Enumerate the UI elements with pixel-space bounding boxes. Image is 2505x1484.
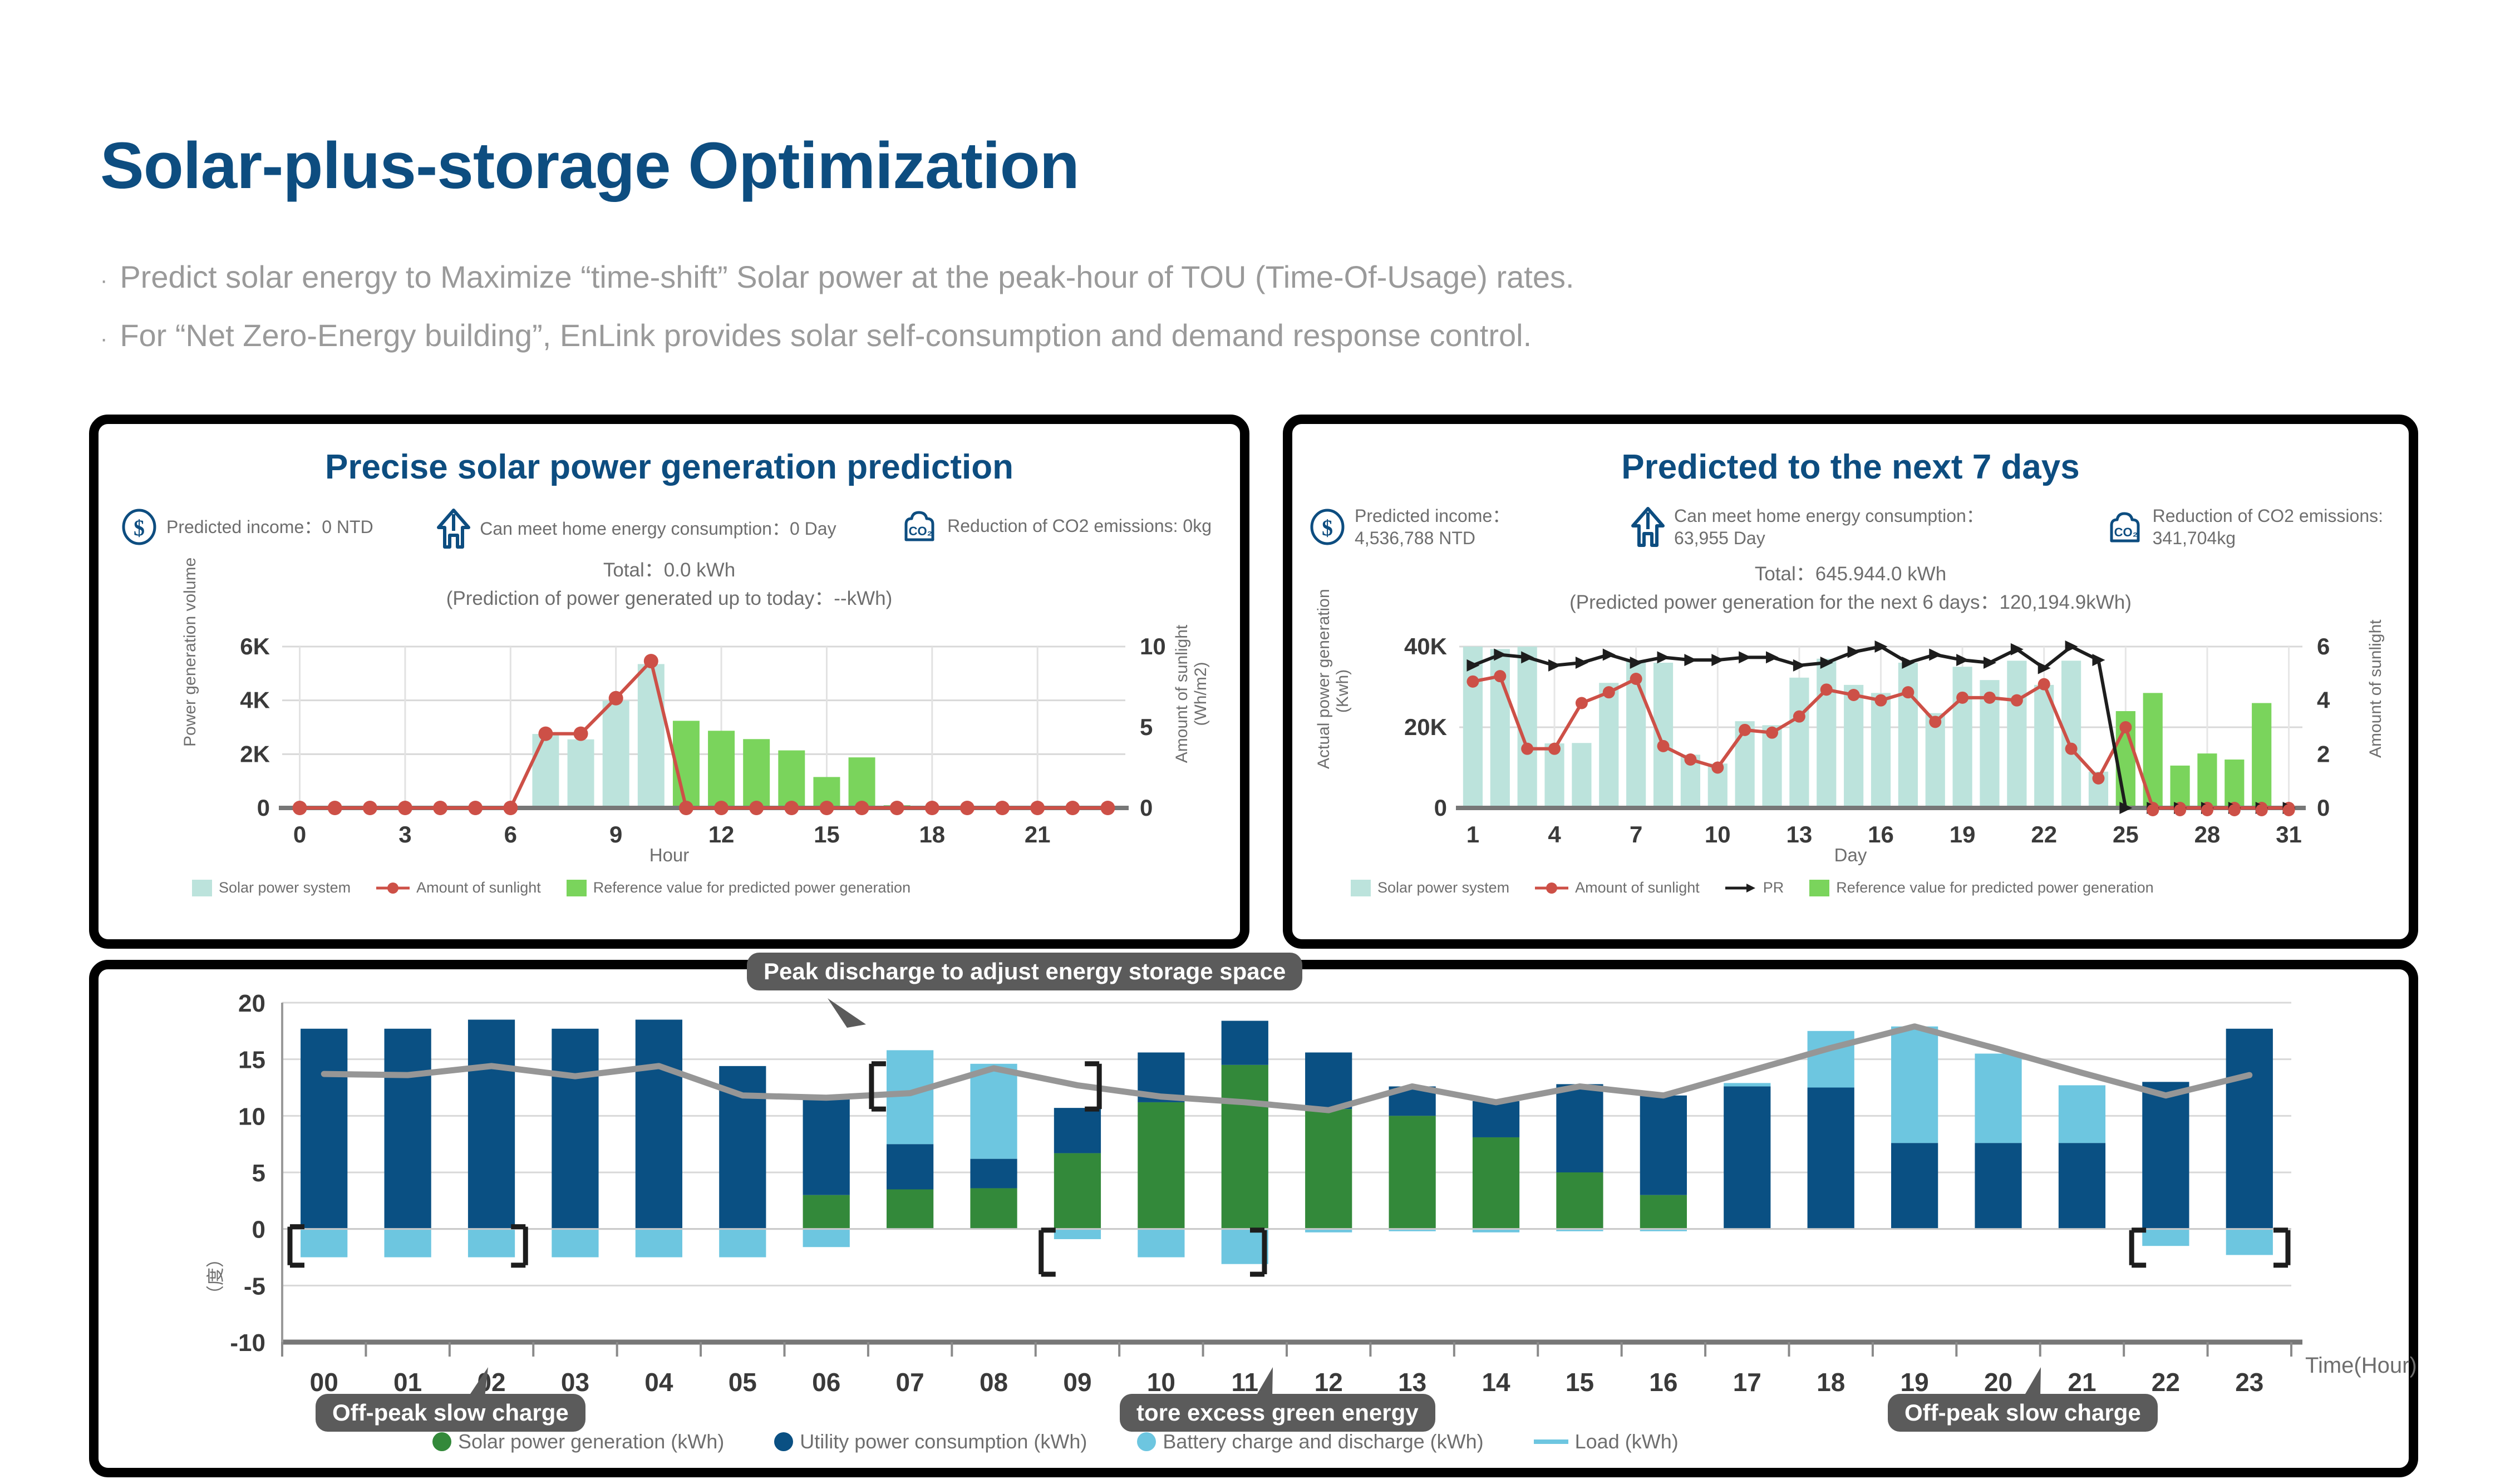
x-tick-label: 01: [393, 1368, 422, 1397]
bar-utility-consumption: [803, 1098, 850, 1195]
x-tick-label: 15: [1566, 1368, 1594, 1397]
sunlight-point: [328, 801, 342, 815]
x-tick-label: 08: [980, 1368, 1008, 1397]
sunlight-point: [1984, 692, 1996, 704]
legend-label-reference: Reference value for predicted power gene…: [1836, 879, 2153, 896]
legend-label-battery: Battery charge and discharge (kWh): [1163, 1430, 1483, 1453]
y2-tick-label: 0: [2317, 795, 2330, 821]
load-line: [324, 1027, 2250, 1110]
bar-battery-discharge: [552, 1229, 598, 1258]
legend-amount-of-sunlight: Amount of sunlight: [376, 879, 541, 896]
sunlight-point: [1684, 753, 1696, 766]
sunlight-point: [749, 801, 764, 815]
x-tick-label: 19: [1901, 1368, 1929, 1397]
panel-energy-dispatch: （度） Time(Hour) -10-505101520000102030405…: [89, 960, 2418, 1477]
sunlight-point: [1766, 727, 1778, 739]
bar-utility-consumption: [1724, 1086, 1770, 1229]
sunlight-point: [644, 654, 658, 668]
y-tick-label: 5: [252, 1160, 265, 1187]
bullet-dot-icon: ·: [100, 328, 107, 350]
sunlight-point: [1466, 676, 1479, 688]
bar-reference-value-for-predicted-power-generation: [2197, 753, 2217, 808]
legend-utility-consumption: Utility power consumption (kWh): [774, 1430, 1087, 1453]
legend-label-solar-generation: Solar power generation (kWh): [458, 1430, 724, 1453]
sunlight-point: [2119, 721, 2132, 733]
bullet-item-2: · For “Net Zero-Energy building”, EnLink…: [100, 317, 1532, 353]
bar-utility-consumption: [1054, 1108, 1101, 1153]
x-tick-label: 14: [1482, 1368, 1510, 1397]
pr-marker: [1984, 657, 1996, 669]
legend-marker-sunlight: [1535, 882, 1568, 894]
bar-solar-generation: [1556, 1172, 1603, 1229]
bar-utility-consumption: [385, 1029, 431, 1229]
legend-reference-value: Reference value for predicted power gene…: [567, 879, 911, 896]
slide-root: Solar-plus-storage Optimization · Predic…: [0, 0, 2505, 1484]
sunlight-point: [1793, 711, 1805, 723]
x-tick-label: 20: [1984, 1368, 2012, 1397]
pr-marker: [1739, 651, 1751, 663]
x-tick-label: 07: [896, 1368, 924, 1397]
bar-battery-discharge: [385, 1229, 431, 1258]
bar-battery-charge: [1724, 1083, 1770, 1086]
bar-solar-power-system: [638, 664, 665, 808]
sunlight-point: [679, 801, 693, 815]
sunlight-point: [293, 801, 307, 815]
x-tick-label: 03: [561, 1368, 589, 1397]
y-tick-label: 4K: [240, 687, 270, 713]
bar-solar-generation: [1389, 1116, 1436, 1229]
legend-reference-value: Reference value for predicted power gene…: [1809, 879, 2153, 896]
x-tick-label: 1: [1466, 821, 1479, 847]
bar-battery-discharge: [719, 1229, 766, 1258]
sunlight-point: [1065, 801, 1080, 815]
callout-peak-discharge: Peak discharge to adjust energy storage …: [747, 953, 1302, 990]
sunlight-point: [925, 801, 939, 815]
legend-amount-of-sunlight: Amount of sunlight: [1535, 879, 1700, 896]
bar-solar-power-system: [1572, 743, 1591, 808]
legend-marker-load: [1534, 1437, 1568, 1446]
sunlight-point: [2283, 804, 2295, 816]
bar-battery-charge: [1808, 1031, 1854, 1088]
legend-solar-power-system: Solar power system: [192, 879, 351, 896]
pr-marker: [1603, 649, 1616, 661]
pr-marker: [1929, 649, 1942, 661]
bar-solar-generation: [1138, 1102, 1184, 1229]
legend-label-sunlight: Amount of sunlight: [1575, 879, 1700, 896]
bar-utility-consumption: [2059, 1143, 2105, 1229]
bar-battery-charge: [970, 1064, 1017, 1159]
bar-solar-power-system: [1789, 678, 1809, 808]
x-tick-label: 25: [2113, 821, 2139, 847]
y-tick-label: 0: [252, 1216, 265, 1244]
pr-marker: [1848, 646, 1861, 658]
legend-pr: PR: [1725, 879, 1784, 896]
chart-bottom-legend: Solar power generation (kWh) Utility pow…: [432, 1430, 1704, 1453]
x-tick-label: 12: [708, 821, 735, 847]
bar-solar-generation: [1222, 1065, 1268, 1229]
sunlight-point: [433, 801, 447, 815]
sunlight-point: [1657, 740, 1670, 752]
legend-swatch-solar-generation: [432, 1432, 451, 1451]
legend-label-solar: Solar power system: [219, 879, 351, 896]
bar-utility-consumption: [552, 1029, 598, 1229]
sunlight-point: [890, 801, 904, 815]
bar-solar-power-system: [1871, 693, 1891, 808]
legend-load: Load (kWh): [1534, 1430, 1679, 1453]
y-tick-label: 40K: [1404, 633, 1447, 659]
x-tick-label: 16: [1868, 821, 1894, 847]
y-tick-label: 20K: [1404, 714, 1447, 740]
sunlight-point: [2092, 772, 2104, 785]
chart-daily-energy-dispatch: （度） Time(Hour) -10-505101520000102030405…: [99, 969, 2409, 1468]
sunlight-point: [1603, 686, 1615, 698]
bar-battery-discharge: [1054, 1229, 1101, 1239]
x-tick-label: 6: [504, 821, 517, 847]
pr-marker: [1576, 657, 1588, 669]
bar-utility-consumption: [1891, 1143, 1938, 1229]
y-tick-label: 0: [1434, 795, 1447, 821]
x-tick-label: 0: [293, 821, 306, 847]
x-tick-label: 10: [1147, 1368, 1175, 1397]
y2-tick-label: 4: [2317, 687, 2330, 713]
sunlight-point: [1576, 697, 1588, 709]
x-tick-label: 4: [1548, 821, 1561, 847]
y-tick-label: 0: [257, 795, 270, 821]
bar-reference-value-for-predicted-power-generation: [2252, 703, 2271, 808]
sunlight-point: [468, 801, 483, 815]
bar-utility-consumption: [2142, 1082, 2189, 1229]
legend-swatch-solar: [1351, 880, 1371, 896]
legend-swatch-reference: [567, 880, 587, 896]
sunlight-point: [714, 801, 729, 815]
chart-left-canvas: 02K4K6K0510036912151821: [99, 424, 1240, 939]
x-tick-label: 22: [2152, 1368, 2180, 1397]
bar-solar-generation: [1305, 1109, 1352, 1229]
y-tick-label: 20: [238, 990, 265, 1017]
x-tick-label: 9: [609, 821, 622, 847]
x-tick-label: 31: [2276, 821, 2302, 847]
bar-utility-consumption: [887, 1144, 933, 1189]
y-tick-label: 6K: [240, 633, 270, 659]
sunlight-point: [784, 801, 799, 815]
bar-utility-consumption: [1305, 1052, 1352, 1109]
panel-next-7-days: Predicted to the next 7 days $ Predicted…: [1283, 415, 2418, 949]
bar-utility-consumption: [1975, 1143, 2021, 1229]
sunlight-point: [2147, 804, 2159, 816]
page-title: Solar-plus-storage Optimization: [100, 128, 1079, 204]
callout-offpeak-slow-charge-left: Off-peak slow charge: [316, 1394, 585, 1432]
sunlight-point: [538, 727, 553, 741]
bar-reference-value-for-predicted-power-generation: [778, 751, 805, 808]
x-tick-label: 12: [1315, 1368, 1343, 1397]
chart-daily-prediction: Actual power generation(Kwh) Amount of s…: [1292, 424, 2409, 939]
bar-battery-charge: [1891, 1027, 1938, 1143]
bar-solar-power-system: [532, 734, 559, 808]
x-tick-label: 18: [1817, 1368, 1845, 1397]
bar-solar-power-system: [1463, 647, 1483, 808]
sunlight-point: [1820, 683, 1833, 696]
y-tick-label: 10: [238, 1103, 265, 1130]
sunlight-point: [1902, 686, 1914, 698]
x-tick-label: 11: [1231, 1368, 1258, 1397]
sunlight-point: [1848, 689, 1860, 701]
sunlight-point: [1521, 743, 1533, 755]
legend-swatch-reference: [1809, 880, 1829, 896]
bar-battery-charge: [2059, 1085, 2105, 1143]
bar-battery-discharge: [2142, 1229, 2189, 1246]
bullet-item-1: · Predict solar energy to Maximize “time…: [100, 259, 1574, 295]
y2-tick-label: 10: [1140, 633, 1166, 659]
bar-utility-consumption: [301, 1029, 347, 1229]
legend-label-utility: Utility power consumption (kWh): [800, 1430, 1087, 1453]
bar-solar-generation: [1473, 1137, 1519, 1229]
bar-solar-generation: [1640, 1195, 1687, 1229]
y2-tick-label: 0: [1140, 795, 1153, 821]
bar-solar-power-system: [2007, 660, 2026, 808]
bullet-text-2: For “Net Zero-Energy building”, EnLink p…: [120, 317, 1532, 353]
legend-swatch-battery: [1137, 1432, 1156, 1451]
bar-utility-consumption: [1556, 1084, 1603, 1172]
bar-utility-consumption: [1473, 1101, 1519, 1137]
chart-left-legend: Solar power system Amount of sunlight Re…: [192, 879, 936, 896]
sunlight-point: [1548, 743, 1561, 755]
bar-reference-value-for-predicted-power-generation: [708, 731, 735, 808]
y-tick-label: -5: [244, 1273, 265, 1300]
legend-marker-sunlight: [376, 882, 410, 894]
x-tick-label: 13: [1398, 1368, 1426, 1397]
sunlight-point: [2201, 804, 2213, 816]
sunlight-line: [300, 661, 1108, 808]
y2-tick-label: 5: [1140, 714, 1153, 740]
x-tick-label: 05: [729, 1368, 757, 1397]
bar-battery-discharge: [803, 1229, 850, 1248]
legend-label-load: Load (kWh): [1575, 1430, 1679, 1453]
x-tick-label: 22: [2031, 821, 2057, 847]
bar-utility-consumption: [970, 1159, 1017, 1189]
bar-utility-consumption: [1640, 1096, 1687, 1195]
bar-utility-consumption: [2226, 1029, 2273, 1229]
sunlight-point: [398, 801, 412, 815]
legend-marker-pr: [1725, 882, 1756, 894]
bar-solar-power-system: [568, 739, 594, 808]
sunlight-point: [2038, 678, 2050, 691]
x-tick-label: 04: [644, 1368, 673, 1397]
callout-offpeak-slow-charge-right: Off-peak slow charge: [1888, 1394, 2158, 1432]
sunlight-point: [855, 801, 869, 815]
sunlight-point: [1956, 692, 1968, 704]
x-tick-label: 17: [1733, 1368, 1761, 1397]
x-tick-label: 09: [1063, 1368, 1091, 1397]
bar-reference-value-for-predicted-power-generation: [743, 739, 770, 808]
sunlight-point: [1929, 716, 1941, 728]
bar-reference-value-for-predicted-power-generation: [2170, 766, 2189, 808]
legend-swatch-solar: [192, 880, 212, 896]
x-tick-label: 13: [1787, 821, 1813, 847]
bar-battery-discharge: [301, 1229, 347, 1258]
sunlight-point: [363, 801, 377, 815]
x-tick-label: 21: [1025, 821, 1051, 847]
sunlight-point: [1739, 724, 1751, 736]
chart-right-canvas: 020K40K02461471013161922252831: [1292, 424, 2409, 939]
bar-battery-charge: [1975, 1054, 2021, 1143]
sunlight-point: [503, 801, 518, 815]
y2-tick-label: 2: [2317, 741, 2330, 767]
x-tick-label: 7: [1630, 821, 1642, 847]
bar-solar-generation: [970, 1188, 1017, 1229]
bar-solar-power-system: [1653, 663, 1673, 808]
bar-solar-generation: [887, 1190, 933, 1229]
bar-reference-value-for-predicted-power-generation: [2225, 760, 2244, 808]
bar-utility-consumption: [1222, 1021, 1268, 1065]
x-tick-label: 16: [1649, 1368, 1677, 1397]
sunlight-point: [1711, 762, 1724, 774]
bar-solar-power-system: [1844, 685, 1863, 808]
x-tick-label: 3: [398, 821, 411, 847]
x-tick-label: 21: [2068, 1368, 2096, 1397]
pr-marker: [1657, 651, 1670, 663]
legend-battery: Battery charge and discharge (kWh): [1137, 1430, 1483, 1453]
legend-solar-generation: Solar power generation (kWh): [432, 1430, 724, 1453]
legend-label-sunlight: Amount of sunlight: [416, 879, 541, 896]
x-tick-label: 23: [2235, 1368, 2263, 1397]
x-tick-label: 15: [814, 821, 840, 847]
sunlight-point: [2228, 804, 2241, 816]
x-tick-label: 19: [1950, 821, 1976, 847]
bar-utility-consumption: [1808, 1088, 1854, 1229]
bar-utility-consumption: [468, 1020, 515, 1229]
sunlight-point: [1100, 801, 1115, 815]
pr-marker: [1684, 654, 1697, 666]
legend-label-pr: PR: [1763, 879, 1784, 896]
sunlight-point: [574, 727, 588, 741]
x-tick-label: 00: [310, 1368, 338, 1397]
legend-swatch-utility: [774, 1432, 793, 1451]
x-tick-label: 28: [2194, 821, 2221, 847]
y2-tick-label: 6: [2317, 633, 2330, 659]
sunlight-point: [1030, 801, 1045, 815]
y-tick-label: -10: [230, 1329, 265, 1357]
bar-utility-consumption: [636, 1020, 682, 1229]
sunlight-point: [2174, 804, 2186, 816]
sunlight-point: [2011, 694, 2023, 707]
bar-battery-discharge: [2226, 1229, 2273, 1255]
y-tick-label: 2K: [240, 741, 270, 767]
chart-bottom-canvas: -10-505101520000102030405060708091011121…: [99, 969, 2409, 1468]
legend-label-reference: Reference value for predicted power gene…: [593, 879, 911, 896]
bar-solar-generation: [1054, 1153, 1101, 1229]
sunlight-point: [995, 801, 1010, 815]
bar-battery-discharge: [468, 1229, 515, 1258]
bar-solar-power-system: [1817, 659, 1836, 808]
bar-battery-charge: [887, 1050, 933, 1144]
sunlight-point: [1494, 670, 1506, 682]
bar-solar-power-system: [1953, 667, 1972, 808]
chart-right-legend: Solar power system Amount of sunlight PR: [1351, 879, 2179, 896]
sunlight-point: [2065, 743, 2078, 755]
x-tick-label: 18: [919, 821, 945, 847]
panel-precise-prediction: Precise solar power generation predictio…: [89, 415, 1249, 949]
bar-battery-discharge: [1222, 1229, 1268, 1264]
x-tick-label: 10: [1705, 821, 1731, 847]
bar-solar-power-system: [1898, 663, 1918, 808]
sunlight-point: [1875, 694, 1887, 707]
bar-solar-power-system: [1599, 683, 1618, 808]
pr-marker: [2065, 640, 2078, 653]
pr-marker: [1766, 651, 1779, 663]
sunlight-point: [2256, 804, 2268, 816]
callout-store-excess-green-energy: tore excess green energy: [1120, 1394, 1435, 1432]
y-tick-label: 15: [238, 1047, 265, 1074]
sunlight-point: [960, 801, 975, 815]
bullet-dot-icon: ·: [100, 269, 107, 292]
bar-battery-discharge: [1138, 1229, 1184, 1258]
legend-solar-power-system: Solar power system: [1351, 879, 1509, 896]
sunlight-point: [819, 801, 834, 815]
bar-reference-value-for-predicted-power-generation: [849, 757, 875, 808]
chart-hourly-prediction: Power generation volume Amount of sunlig…: [99, 424, 1240, 939]
bar-solar-generation: [803, 1195, 850, 1229]
legend-label-solar: Solar power system: [1377, 879, 1509, 896]
bar-solar-power-system: [603, 701, 629, 808]
bar-battery-discharge: [636, 1229, 682, 1258]
x-tick-label: 06: [812, 1368, 840, 1397]
sunlight-point: [609, 691, 623, 706]
bullet-text-1: Predict solar energy to Maximize “time-s…: [120, 259, 1574, 295]
sunlight-point: [1630, 673, 1642, 685]
